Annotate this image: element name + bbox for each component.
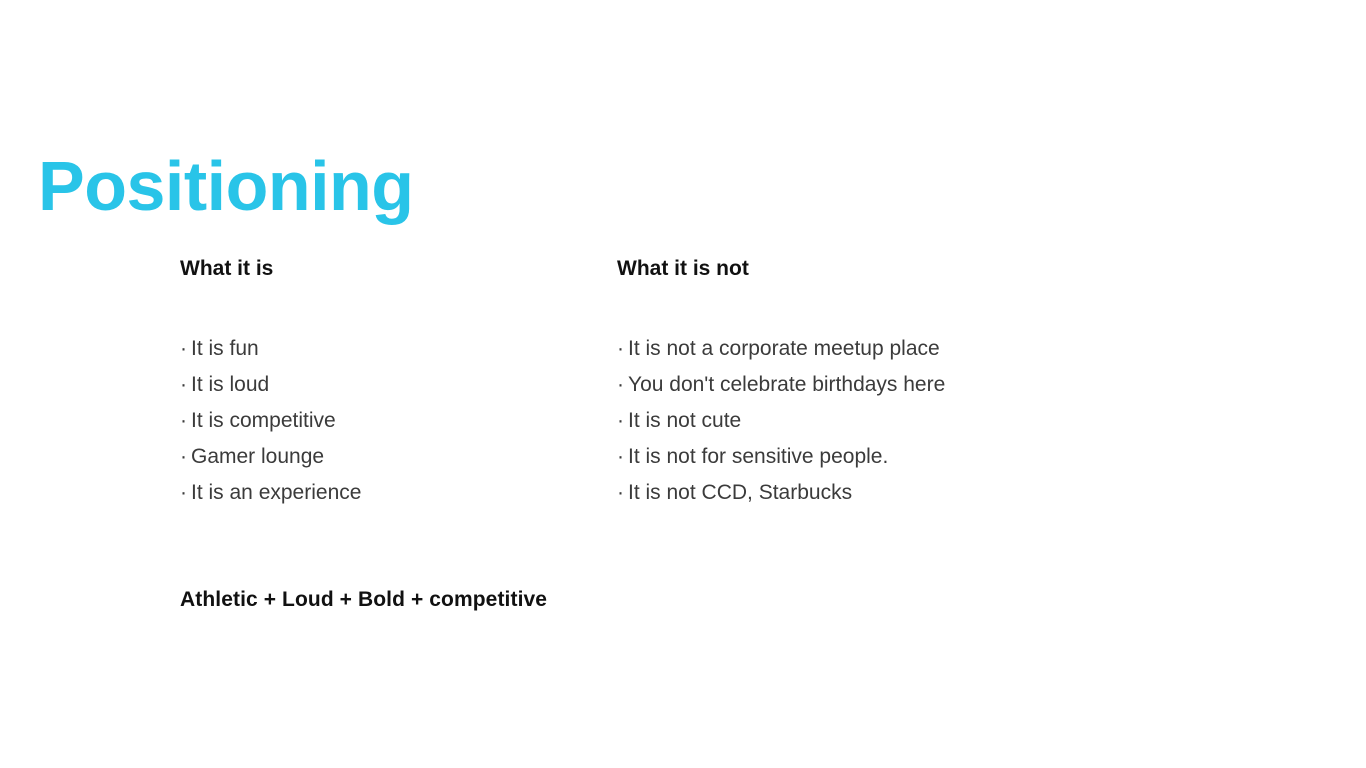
page-title: Positioning [38, 151, 414, 221]
list-item-label: It is not a corporate meetup place [628, 331, 940, 367]
bullet-dot-icon: · [617, 331, 628, 367]
bullet-list-what-it-is: · It is fun · It is loud · It is competi… [180, 331, 617, 511]
column-what-it-is: What it is · It is fun · It is loud · It… [180, 258, 617, 511]
positioning-columns: What it is · It is fun · It is loud · It… [180, 258, 1280, 511]
list-item: · It is not CCD, Starbucks [617, 475, 1237, 511]
slide-canvas: Positioning What it is · It is fun · It … [0, 0, 1366, 768]
column-heading-what-it-is-not: What it is not [617, 258, 1237, 279]
list-item: · It is an experience [180, 475, 617, 511]
list-item-label: It is not cute [628, 403, 741, 439]
bullet-list-what-it-is-not: · It is not a corporate meetup place · Y… [617, 331, 1237, 511]
bullet-dot-icon: · [617, 367, 628, 403]
list-item-label: It is an experience [191, 475, 361, 511]
list-item-label: It is not for sensitive people. [628, 439, 888, 475]
list-item: · It is fun [180, 331, 617, 367]
list-item: · It is competitive [180, 403, 617, 439]
list-item: · It is loud [180, 367, 617, 403]
list-item-label: It is fun [191, 331, 259, 367]
list-item: · Gamer lounge [180, 439, 617, 475]
bullet-dot-icon: · [180, 475, 191, 511]
column-what-it-is-not: What it is not · It is not a corporate m… [617, 258, 1237, 511]
bullet-dot-icon: · [617, 475, 628, 511]
list-item-label: It is not CCD, Starbucks [628, 475, 852, 511]
list-item-label: Gamer lounge [191, 439, 324, 475]
bullet-dot-icon: · [180, 367, 191, 403]
list-item-label: It is loud [191, 367, 269, 403]
bullet-dot-icon: · [180, 403, 191, 439]
list-item: · It is not for sensitive people. [617, 439, 1237, 475]
bullet-dot-icon: · [617, 439, 628, 475]
bullet-dot-icon: · [180, 439, 191, 475]
list-item-label: You don't celebrate birthdays here [628, 367, 945, 403]
column-heading-what-it-is: What it is [180, 258, 617, 279]
positioning-tagline: Athletic + Loud + Bold + competitive [180, 589, 547, 610]
list-item-label: It is competitive [191, 403, 336, 439]
list-item: · You don't celebrate birthdays here [617, 367, 1237, 403]
bullet-dot-icon: · [617, 403, 628, 439]
bullet-dot-icon: · [180, 331, 191, 367]
list-item: · It is not cute [617, 403, 1237, 439]
list-item: · It is not a corporate meetup place [617, 331, 1237, 367]
